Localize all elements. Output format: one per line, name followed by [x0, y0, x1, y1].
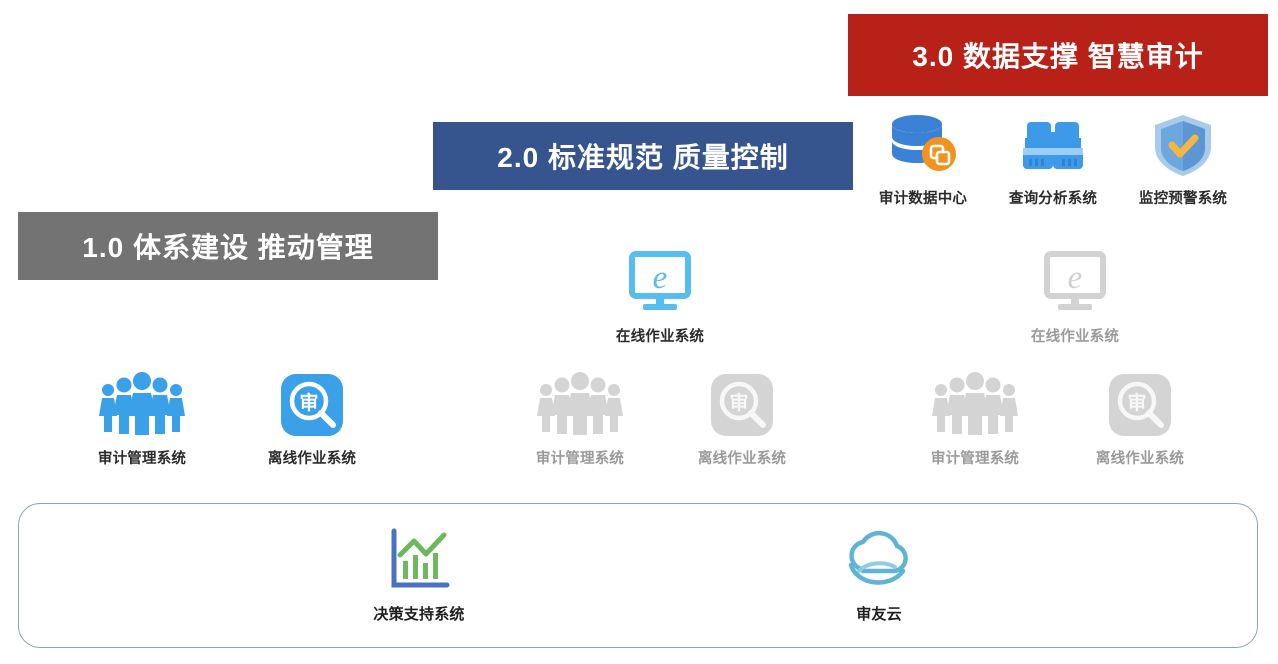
tile-caption: 审友云 [809, 603, 949, 624]
svg-text:e: e [653, 260, 668, 296]
tile-caption: 离线作业系统 [672, 447, 812, 468]
binoculars-icon [983, 110, 1123, 180]
tile-caption: 决策支持系统 [349, 603, 489, 624]
tile-online-work-col2[interactable]: e 在线作业系统 [590, 248, 730, 346]
tile-monitor-alert[interactable]: 监控预警系统 [1113, 110, 1253, 208]
tile-audit-mgmt-col2[interactable]: 审计管理系统 [510, 370, 650, 468]
tile-caption: 审计数据中心 [853, 187, 993, 208]
tile-offline-work-col2[interactable]: 审 离线作业系统 [672, 370, 812, 468]
monitor-e-icon: e [1005, 248, 1145, 318]
tile-online-work-col3[interactable]: e 在线作业系统 [1005, 248, 1145, 346]
tile-offline-work-col3[interactable]: 审 离线作业系统 [1070, 370, 1210, 468]
svg-text:审: 审 [729, 391, 748, 414]
tile-audit-mgmt-col3[interactable]: 审计管理系统 [905, 370, 1045, 468]
monitor-e-icon: e [590, 248, 730, 318]
tile-decision-support[interactable]: 决策支持系统 [349, 524, 489, 624]
architecture-diagram: 1.0 体系建设 推动管理 2.0 标准规范 质量控制 3.0 数据支撑 智慧审… [0, 0, 1278, 664]
tile-query-analysis[interactable]: 查询分析系统 [983, 110, 1123, 208]
people-group-icon [510, 370, 650, 440]
tile-audit-mgmt-col1[interactable]: 审计管理系统 [72, 370, 212, 468]
magnifier-shen-icon: 审 [672, 370, 812, 440]
svg-text:审: 审 [299, 391, 318, 414]
stage-banner-1-label: 1.0 体系建设 推动管理 [82, 226, 373, 266]
tile-shenyou-cloud[interactable]: 审友云 [809, 524, 949, 624]
tile-caption: 审计管理系统 [905, 447, 1045, 468]
tile-caption: 在线作业系统 [590, 325, 730, 346]
platform-panel: 决策支持系统 审友云 [18, 503, 1258, 648]
stage-banner-1: 1.0 体系建设 推动管理 [18, 212, 438, 280]
people-group-icon [72, 370, 212, 440]
stage-banner-3-label: 3.0 数据支撑 智慧审计 [912, 35, 1203, 75]
bar-chart-icon [349, 524, 489, 596]
tile-caption: 审计管理系统 [510, 447, 650, 468]
database-icon [853, 110, 993, 180]
tile-caption: 在线作业系统 [1005, 325, 1145, 346]
stage-banner-2: 2.0 标准规范 质量控制 [433, 122, 853, 190]
svg-text:e: e [1068, 260, 1083, 296]
magnifier-shen-icon: 审 [242, 370, 382, 440]
tile-offline-work-col1[interactable]: 审 离线作业系统 [242, 370, 382, 468]
tile-caption: 查询分析系统 [983, 187, 1123, 208]
shield-check-icon [1113, 110, 1253, 180]
stage-banner-3: 3.0 数据支撑 智慧审计 [848, 14, 1268, 96]
tile-caption: 审计管理系统 [72, 447, 212, 468]
svg-text:审: 审 [1127, 391, 1146, 414]
tile-caption: 离线作业系统 [1070, 447, 1210, 468]
cloud-icon [809, 524, 949, 596]
people-group-icon [905, 370, 1045, 440]
tile-caption: 离线作业系统 [242, 447, 382, 468]
tile-audit-data-center[interactable]: 审计数据中心 [853, 110, 993, 208]
stage-banner-2-label: 2.0 标准规范 质量控制 [497, 136, 788, 176]
magnifier-shen-icon: 审 [1070, 370, 1210, 440]
tile-caption: 监控预警系统 [1113, 187, 1253, 208]
